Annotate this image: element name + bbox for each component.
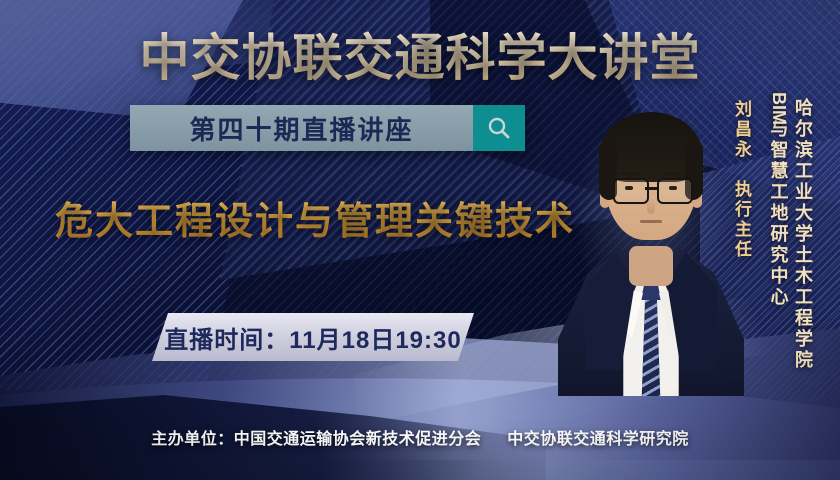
broadcast-time-badge: 直播时间：11月18日19:30 [152, 313, 474, 361]
episode-banner: 第四十期直播讲座 [130, 105, 525, 151]
portrait-glasses-bridge [645, 187, 657, 190]
organizer-footer: 主办单位：中国交通运输协会新技术促进分会中交协联交通科学研究院 [0, 425, 840, 449]
affiliation-acronym: BIM [768, 92, 789, 125]
search-icon [486, 115, 512, 141]
speaker-affiliation-center: BIM与智慧工地研究中心 [762, 98, 795, 308]
affiliation-center-rest: 与智慧工地研究中心 [769, 119, 789, 308]
portrait-neck [629, 246, 673, 286]
speaker-name: 刘昌永 [729, 100, 754, 160]
live-lecture-poster: 中交协联交通科学大讲堂 第四十期直播讲座 危大工程设计与管理关键技术 直播时间：… [0, 0, 840, 480]
speaker-role: 执行主任 [729, 180, 754, 260]
page-title: 中交协联交通科学大讲堂 [0, 18, 840, 90]
portrait-nose [647, 198, 655, 214]
portrait-eyebrow-left [618, 172, 640, 175]
co-organizer-label: 中交协联交通科学研究院 [507, 431, 689, 448]
portrait-eye-left [625, 186, 633, 190]
episode-label: 第四十期直播讲座 [130, 105, 473, 151]
broadcast-time-text: 直播时间：11月18日19:30 [164, 320, 461, 355]
speaker-portrait [556, 86, 746, 396]
portrait-tie-knot [641, 284, 661, 300]
organizer-label: 主办单位：中国交通运输协会新技术促进分会 [151, 431, 481, 448]
portrait-glasses-right-lens [657, 178, 693, 204]
portrait-glasses-left-lens [613, 178, 649, 204]
portrait-mouth [640, 220, 662, 223]
lecture-title: 危大工程设计与管理关键技术 [55, 190, 575, 245]
portrait-eyebrow-right [662, 172, 684, 175]
portrait-eye-right [669, 186, 677, 190]
search-button[interactable] [473, 105, 525, 151]
